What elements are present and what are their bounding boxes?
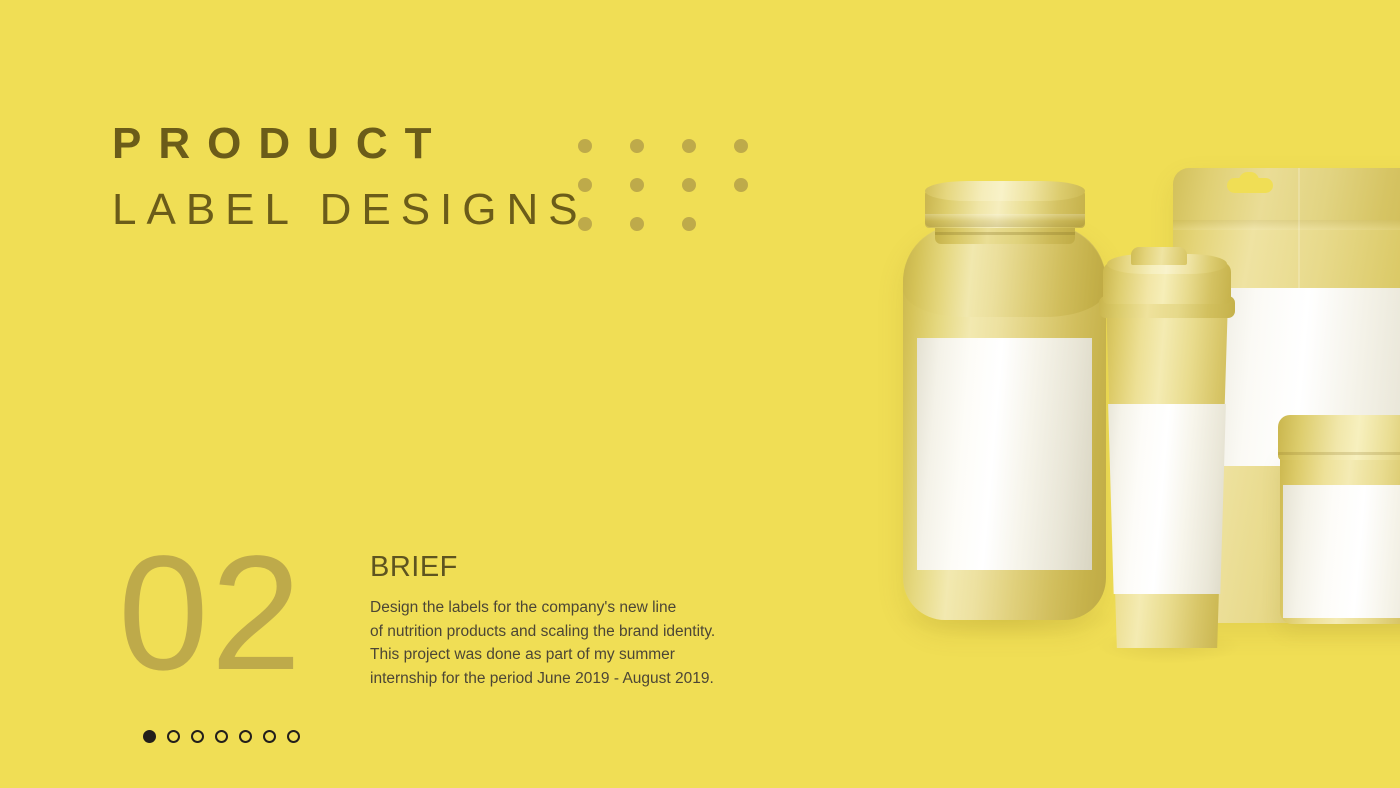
brief-body-text: Design the labels for the company's new … [370, 596, 850, 690]
pouch-seam [1173, 220, 1400, 230]
slide-title: PRODUCT LABEL DESIGNS [112, 122, 588, 232]
grid-dot [578, 217, 592, 231]
pagination-dots[interactable] [143, 730, 300, 743]
grid-dot [578, 178, 592, 192]
grid-dot [630, 217, 644, 231]
jar-big-blank-label [917, 338, 1092, 570]
grid-dot [682, 217, 696, 231]
title-line-product: PRODUCT [112, 122, 588, 166]
presentation-slide: PRODUCT LABEL DESIGNS 02 BRIEF Design th… [0, 0, 1400, 788]
pagination-dot[interactable] [191, 730, 204, 743]
decorative-dot-grid [578, 139, 750, 231]
pagination-dot[interactable] [263, 730, 276, 743]
pagination-dot[interactable] [215, 730, 228, 743]
pagination-dot[interactable] [167, 730, 180, 743]
jar-big-lid-ribbing [925, 214, 1085, 227]
grid-dot [682, 139, 696, 153]
pagination-dot[interactable] [239, 730, 252, 743]
shaker-blank-label [1105, 404, 1229, 594]
pouch-top-flap [1173, 168, 1400, 220]
pouch-hang-hole-round-icon [1239, 172, 1259, 189]
grid-dot [734, 139, 748, 153]
pagination-dot-active[interactable] [143, 730, 156, 743]
brief-heading: BRIEF [370, 553, 850, 582]
jar-small-blank-label [1283, 485, 1400, 618]
grid-dot [630, 139, 644, 153]
grid-dot [734, 178, 748, 192]
jar-big-neck-seam [935, 232, 1075, 235]
jar-big-lid-top [925, 181, 1085, 201]
shaker-spout-cap [1131, 247, 1187, 265]
grid-dot [682, 178, 696, 192]
grid-dot [630, 178, 644, 192]
brief-section: BRIEF Design the labels for the company'… [370, 553, 850, 690]
jar-small-lid-seam [1278, 452, 1400, 455]
pagination-dot[interactable] [287, 730, 300, 743]
title-line-label-designs: LABEL DESIGNS [112, 188, 588, 232]
section-number: 02 [118, 531, 303, 694]
grid-dot [578, 139, 592, 153]
product-mockup-group [855, 0, 1400, 788]
